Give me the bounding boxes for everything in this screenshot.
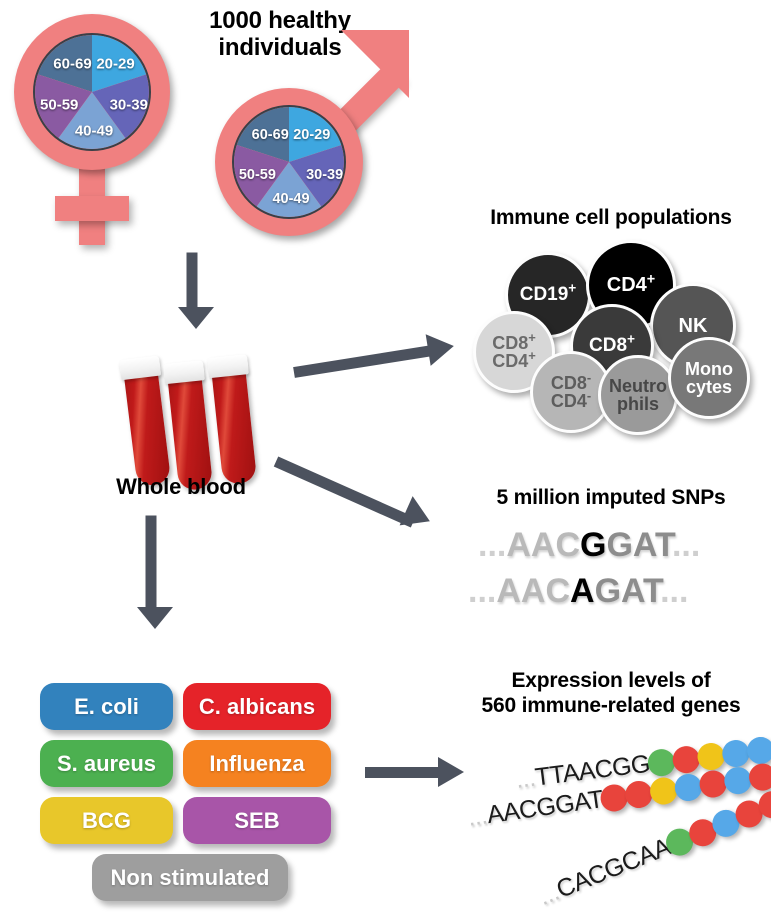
sequence-leading-dots: ... [535,878,563,911]
expression-sequence-text: ...CACGCAA [535,833,675,912]
sequence-leading-dots: ... [466,801,489,831]
expression-bead [748,762,771,792]
expression-strands-group: ...TTAACGG...AACGGAT...CACGCAA [0,0,771,922]
expression-bead [696,742,726,772]
expression-bead [671,745,701,775]
sequence-leading-dots: ... [514,764,537,794]
